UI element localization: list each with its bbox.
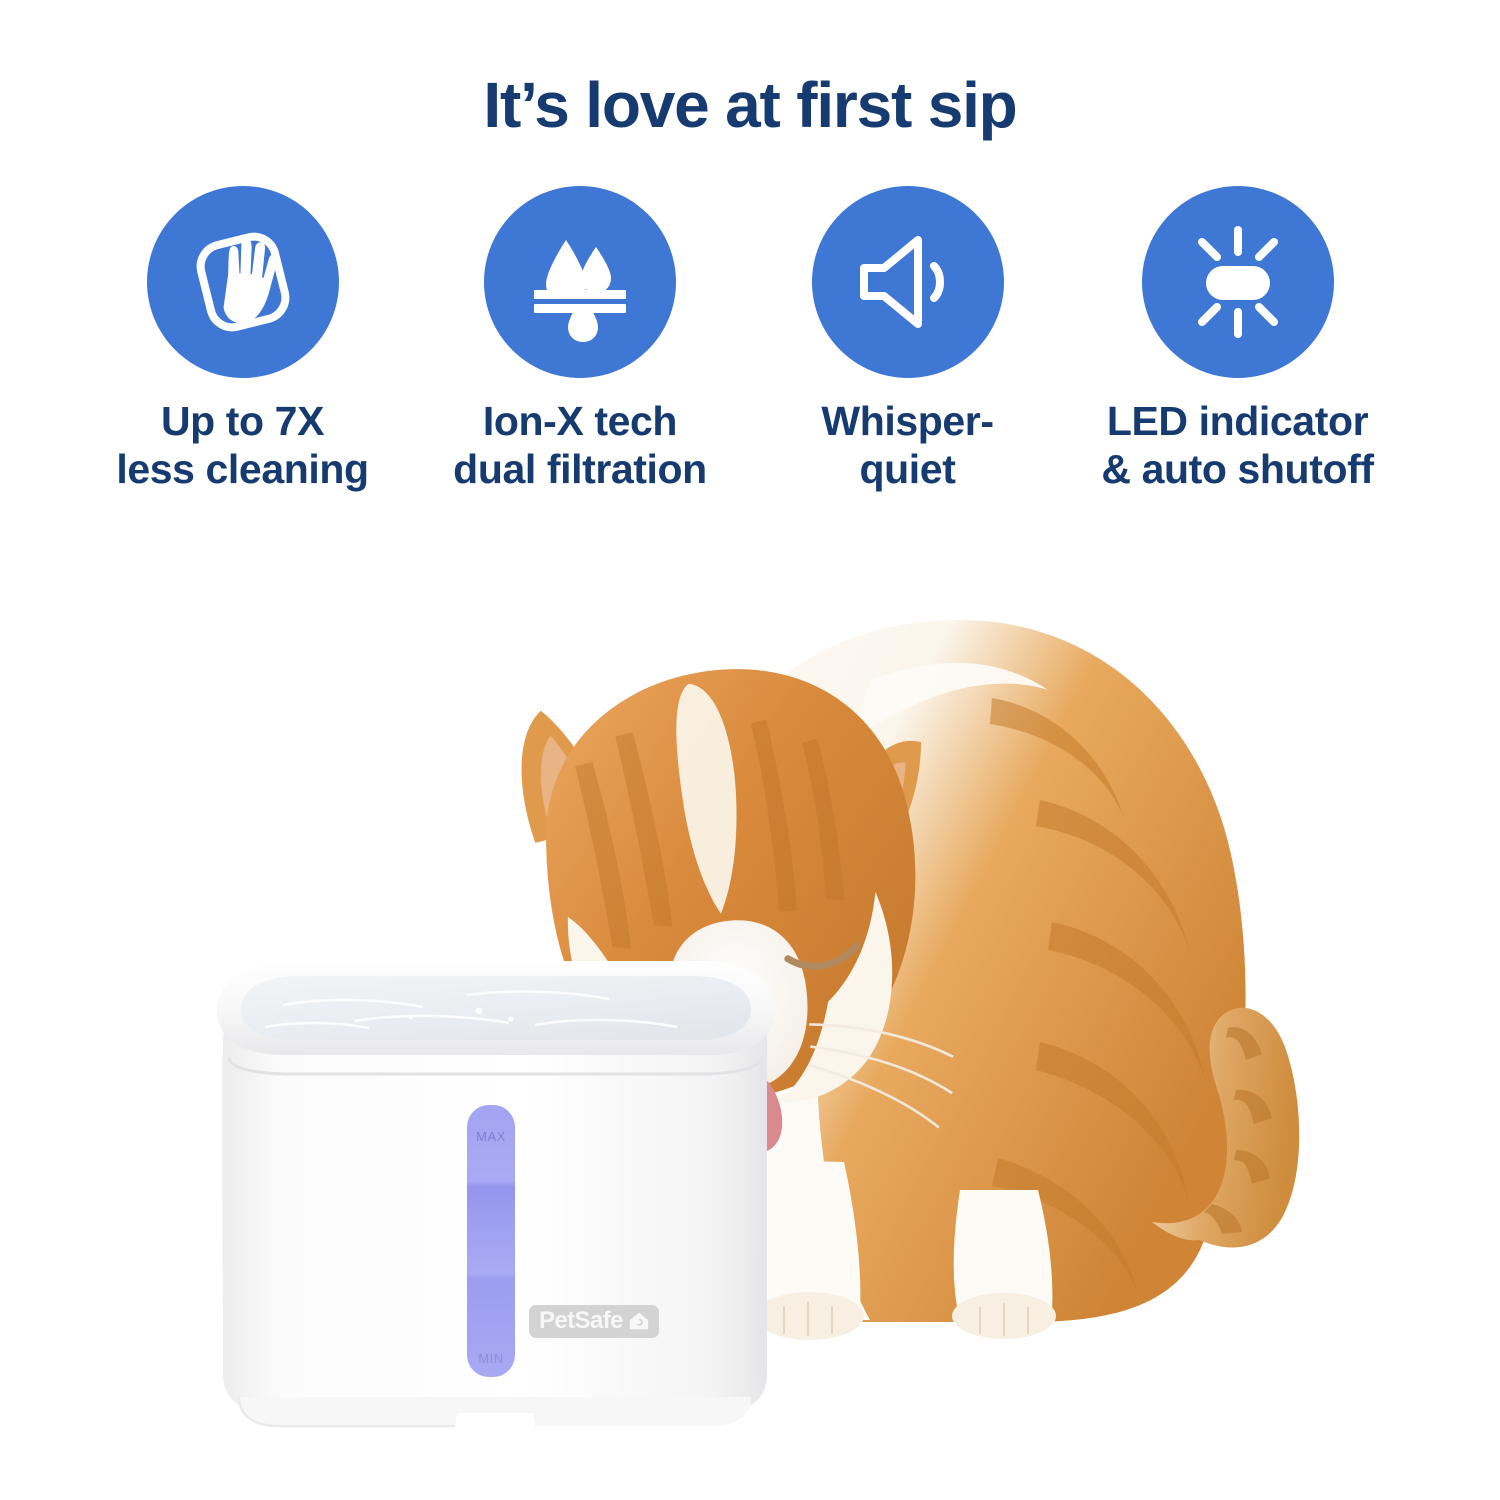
water-level-window — [467, 1105, 515, 1377]
page-title: It’s love at first sip — [0, 72, 1500, 139]
feature-item-quiet: Whisper- quiet — [758, 186, 1058, 493]
feature-item-filtration: Ion-X tech dual filtration — [403, 186, 758, 493]
fountain-base — [239, 1397, 751, 1426]
feature-icon-circle-4 — [1142, 186, 1334, 378]
feature-row: Up to 7X less cleaning — [0, 186, 1500, 493]
product-feature-graphic: It’s love at first sip Up to 7X less cle… — [0, 0, 1500, 1500]
house-icon — [628, 1310, 650, 1332]
fountain-water-surface — [241, 976, 751, 1040]
feature-item-cleaning: Up to 7X less cleaning — [83, 186, 403, 493]
water-drop-filtration-icon — [520, 222, 640, 342]
petsafe-logo: PetSafe — [529, 1305, 659, 1338]
feature-label-2: Ion-X tech dual filtration — [453, 398, 707, 493]
product-scene: MAX MIN — [0, 520, 1500, 1500]
petsafe-logo-text: PetSafe — [539, 1309, 623, 1333]
feature-item-led: LED indicator & auto shutoff — [1058, 186, 1418, 493]
feature-label-3: Whisper- quiet — [821, 398, 993, 493]
feature-icon-circle-1 — [147, 186, 339, 378]
speaker-low-volume-icon — [848, 222, 968, 342]
cleaning-glove-icon — [183, 222, 303, 342]
led-light-icon — [1178, 222, 1298, 342]
feature-label-4: LED indicator & auto shutoff — [1101, 398, 1373, 493]
feature-icon-circle-2 — [484, 186, 676, 378]
pet-water-fountain: MAX MIN — [205, 945, 785, 1455]
feature-label-1: Up to 7X less cleaning — [116, 398, 368, 493]
feature-icon-circle-3 — [812, 186, 1004, 378]
